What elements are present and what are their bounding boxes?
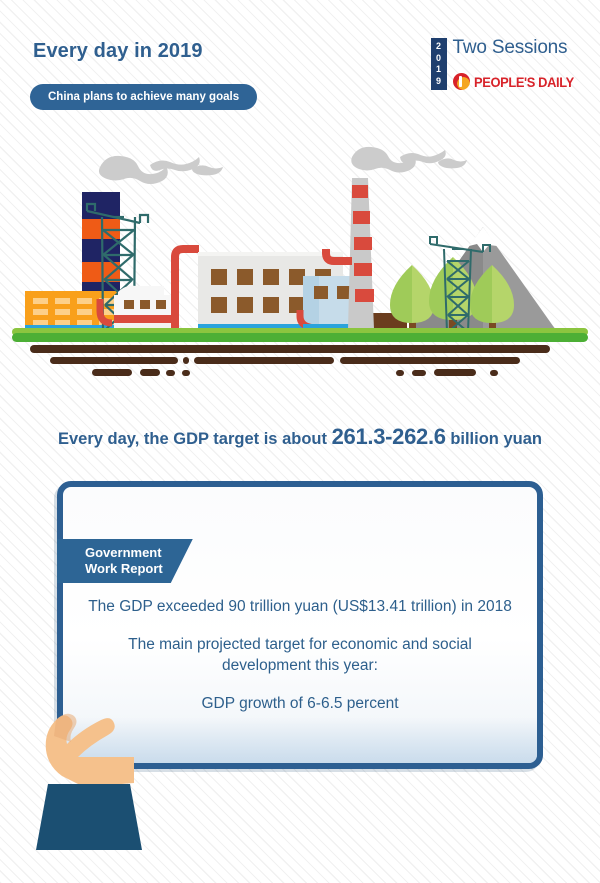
card-paragraph-1: The GDP exceeded 90 trillion yuan (US$13…: [83, 597, 517, 618]
logo-brand-title: Two Sessions: [453, 38, 582, 57]
logo-year-digit-1: 1: [436, 65, 441, 74]
peoples-daily-circle-icon: [453, 73, 470, 90]
subtitle-pill: China plans to achieve many goals: [30, 84, 257, 110]
card-paragraph-2: The main projected target for economic a…: [83, 635, 517, 677]
gdp-suffix: billion yuan: [450, 430, 542, 448]
smoke-puffs-left: [99, 156, 223, 184]
infographic-page: Every day in 2019 China plans to achieve…: [0, 0, 600, 883]
gdp-prefix: Every day, the GDP target is about: [58, 430, 327, 448]
gdp-target-value: 261.3-262.6: [332, 424, 446, 449]
logo-year-box: 2 0 1 9: [431, 38, 447, 90]
gdp-target-line: Every day, the GDP target is about 261.3…: [0, 424, 600, 450]
logo-year-digit-2: 2: [436, 42, 441, 51]
logo-year-digit-0: 0: [436, 54, 441, 63]
publisher-row: PEOPLE'S DAILY: [453, 73, 582, 90]
card-ribbon-label: Government Work Report: [57, 539, 193, 583]
sleeve-shape: [36, 784, 142, 850]
publisher-name: PEOPLE'S DAILY: [474, 75, 574, 89]
card-paragraph-3: GDP growth of 6-6.5 percent: [83, 694, 517, 715]
card-body: The GDP exceeded 90 trillion yuan (US$13…: [83, 597, 517, 715]
factory-scene-illustration: [0, 145, 600, 390]
grass-strip: [12, 328, 588, 342]
ribbon-line-2: Work Report: [85, 561, 163, 577]
ribbon-line-1: Government: [85, 545, 163, 561]
two-sessions-logo: 2 0 1 9 Two Sessions PEOPLE'S DAILY: [431, 38, 582, 90]
logo-text-block: Two Sessions PEOPLE'S DAILY: [447, 38, 582, 90]
ground-shadow-lines: [30, 345, 550, 376]
trees: [390, 257, 514, 332]
page-title: Every day in 2019: [33, 40, 203, 63]
hand-illustration: [18, 680, 148, 855]
smoke-puffs-right: [351, 147, 467, 173]
logo-year-digit-9: 9: [436, 77, 441, 86]
